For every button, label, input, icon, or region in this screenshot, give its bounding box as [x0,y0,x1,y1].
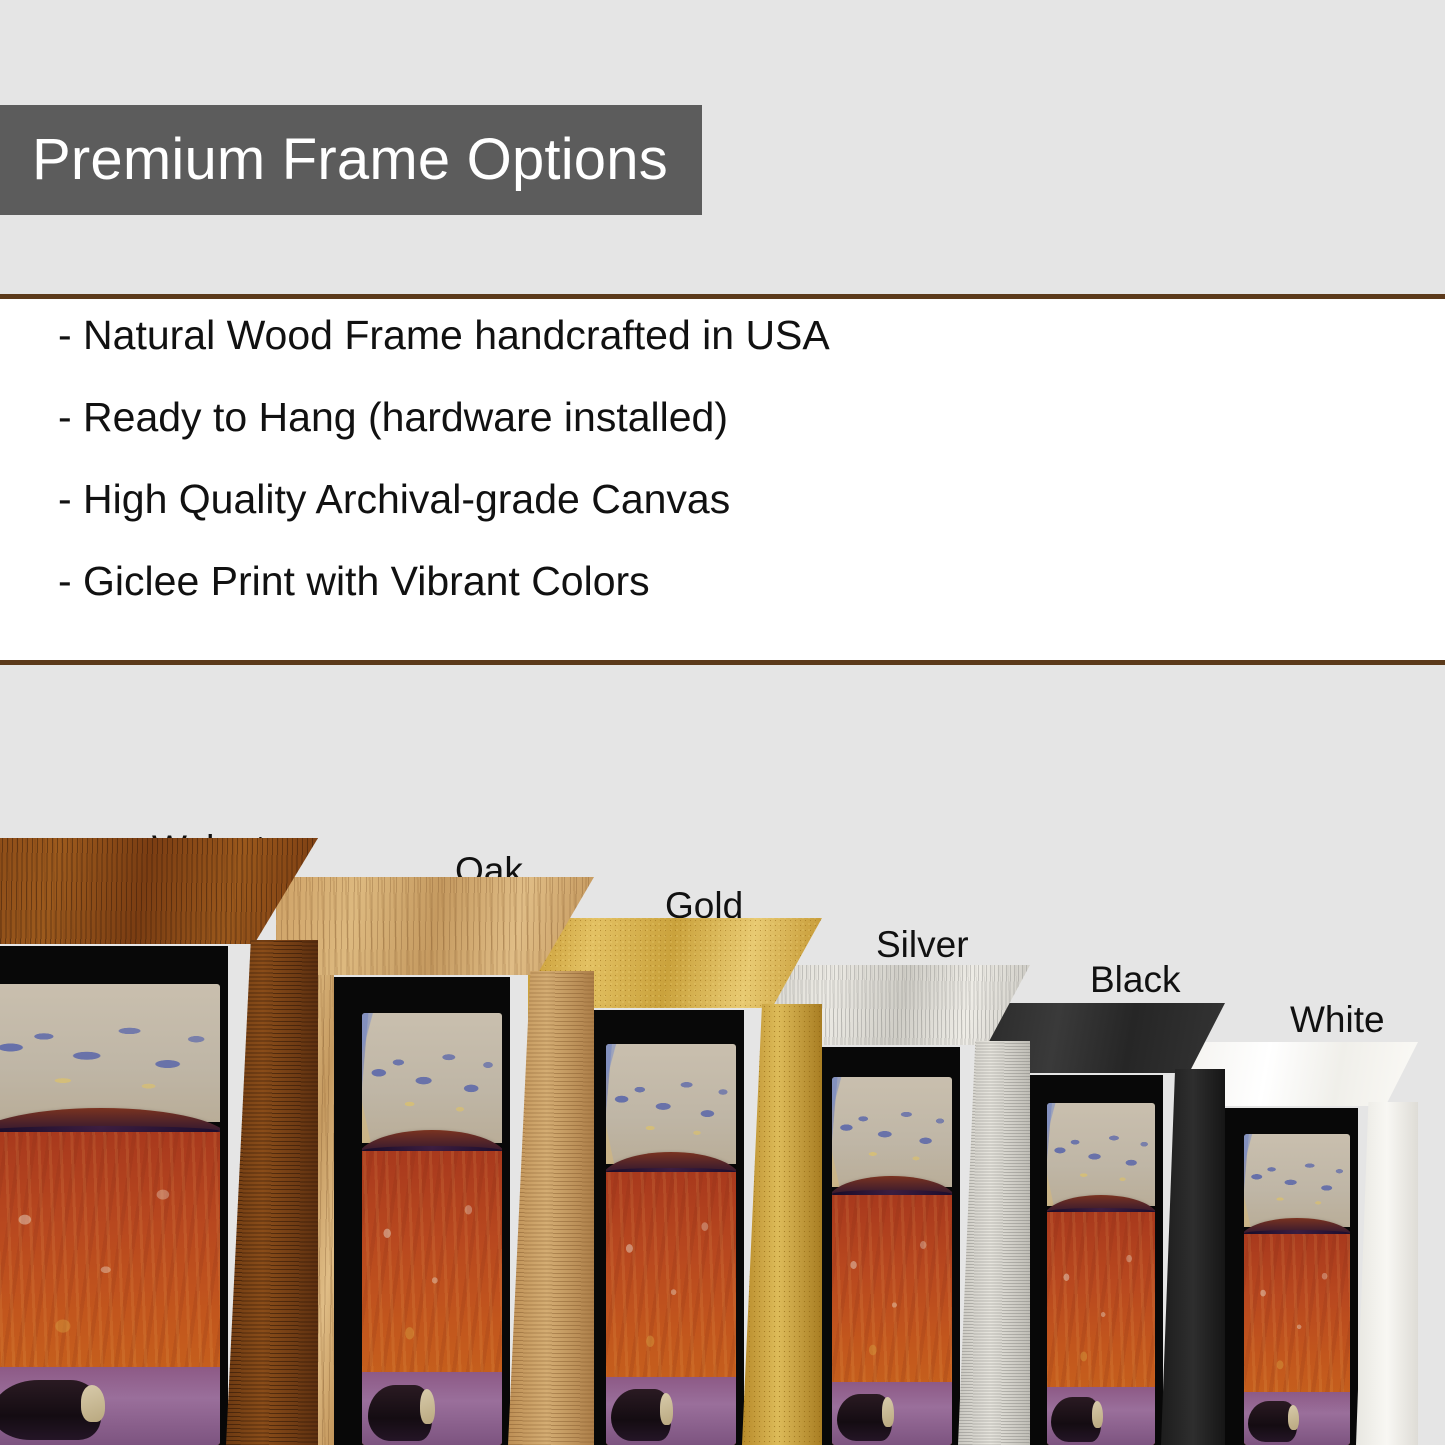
frame-label-white: White [1290,1001,1385,1038]
header-band: Premium Frame Options [0,0,1445,296]
artwork-gold [606,1044,736,1445]
feature-list: - Natural Wood Frame handcrafted in USA … [58,315,1358,643]
frame-top-face-oak [276,877,594,975]
frame-well-gold [578,1010,744,1445]
frame-well-black [1023,1075,1163,1445]
frame-top-face-walnut [0,838,318,944]
artwork-white [1244,1134,1350,1445]
frame-well-white [1222,1108,1358,1445]
frame-side-edge-white [1356,1102,1418,1445]
artwork-oak [362,1013,502,1445]
feature-panel: - Natural Wood Frame handcrafted in USA … [0,299,1445,660]
frame-oak[interactable] [276,877,594,1445]
title-plate: Premium Frame Options [0,105,702,215]
frame-side-edge-black [1161,1069,1225,1445]
list-item: - Natural Wood Frame handcrafted in USA [58,315,1358,356]
frame-label-silver: Silver [876,926,969,963]
artwork-walnut [0,984,220,1445]
frame-well-oak [332,977,510,1445]
list-item: - Ready to Hang (hardware installed) [58,397,1358,438]
frame-well-walnut [0,946,228,1445]
frame-walnut[interactable] [0,838,318,1445]
list-item: - Giclee Print with Vibrant Colors [58,561,1358,602]
page-title: Premium Frame Options [0,131,668,189]
list-item: - High Quality Archival-grade Canvas [58,479,1358,520]
artwork-silver [832,1077,952,1445]
product-infographic: Premium Frame Options - Natural Wood Fra… [0,0,1445,1445]
frame-side-edge-silver [958,1041,1030,1445]
frame-side-edge-walnut [226,940,318,1445]
frame-side-edge-gold [742,1004,822,1445]
frame-label-black: Black [1090,961,1180,998]
frame-gallery: Walnut Oak Gold Silver Black White [0,665,1445,1445]
frame-side-edge-oak [508,971,594,1445]
artwork-black [1047,1103,1155,1445]
frame-well-silver [806,1047,960,1445]
